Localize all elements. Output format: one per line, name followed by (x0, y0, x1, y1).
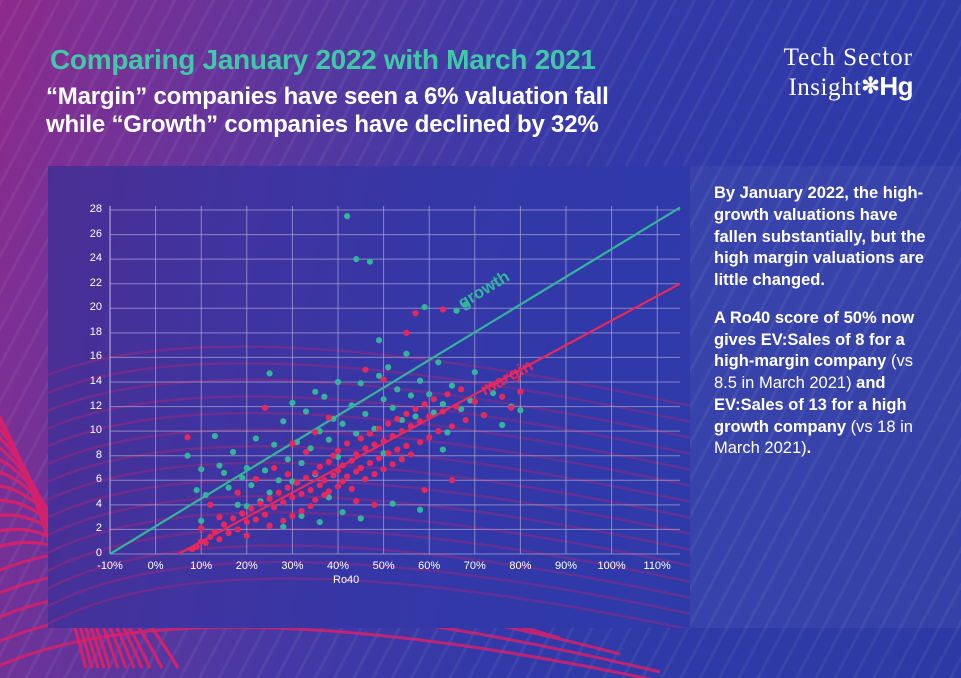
y-tick-label: 8 (68, 449, 102, 461)
y-tick-label: 6 (68, 473, 102, 485)
x-tick-label: 10% (176, 560, 226, 572)
x-tick-label: 70% (450, 560, 500, 572)
y-tick-label: 12 (68, 400, 102, 412)
sidebar-p2-segment-5: . (807, 439, 812, 457)
x-tick-label: 30% (267, 560, 317, 572)
sidebar-p2-segment-1: A Ro40 score of 50% now gives EV:Sales o… (714, 309, 914, 371)
y-tick-label: 14 (68, 375, 102, 387)
y-tick-label: 0 (68, 547, 102, 559)
y-tick-label: 10 (68, 424, 102, 436)
page-title: Comparing January 2022 with March 2021 (50, 44, 596, 76)
sidebar-panel: By January 2022, the high-growth valuati… (690, 166, 961, 628)
x-tick-label: 80% (495, 560, 545, 572)
y-tick-label: 2 (68, 522, 102, 534)
y-tick-label: 18 (68, 326, 102, 338)
scatter-plot (48, 166, 690, 628)
y-tick-label: 16 (68, 350, 102, 362)
x-tick-label: 20% (222, 560, 272, 572)
logo-hg-mark: ✻Hg (861, 71, 913, 101)
sidebar-paragraph-1: By January 2022, the high-growth valuati… (714, 183, 939, 292)
sidebar-paragraph-2: A Ro40 score of 50% now gives EV:Sales o… (714, 308, 939, 460)
logo-line-2: Insight✻Hg (784, 72, 913, 102)
asterisk-icon: ✻ (861, 73, 879, 98)
y-tick-label: 28 (68, 203, 102, 215)
logo-hg-text: Hg (879, 71, 913, 101)
logo-insight-text: Insight (788, 74, 861, 101)
x-axis-label: Ro40 (333, 574, 359, 586)
y-tick-label: 20 (68, 301, 102, 313)
chart-panel: EV:Sales Ro40 growthmargin02468101214161… (48, 166, 690, 628)
x-tick-label: 90% (541, 560, 591, 572)
y-tick-label: 22 (68, 277, 102, 289)
header: Comparing January 2022 with March 2021 “… (0, 0, 961, 160)
x-tick-label: -10% (85, 560, 135, 572)
x-tick-label: 110% (632, 560, 682, 572)
y-tick-label: 24 (68, 252, 102, 264)
x-tick-label: 60% (404, 560, 454, 572)
logo-line-1: Tech Sector (784, 44, 913, 72)
x-tick-label: 0% (131, 560, 181, 572)
y-tick-label: 4 (68, 498, 102, 510)
x-tick-label: 50% (359, 560, 409, 572)
y-tick-label: 26 (68, 228, 102, 240)
x-tick-label: 40% (313, 560, 363, 572)
page-subtitle: “Margin” companies have seen a 6% valuat… (46, 83, 609, 139)
brand-logo: Tech Sector Insight✻Hg (784, 44, 913, 102)
x-tick-label: 100% (587, 560, 637, 572)
